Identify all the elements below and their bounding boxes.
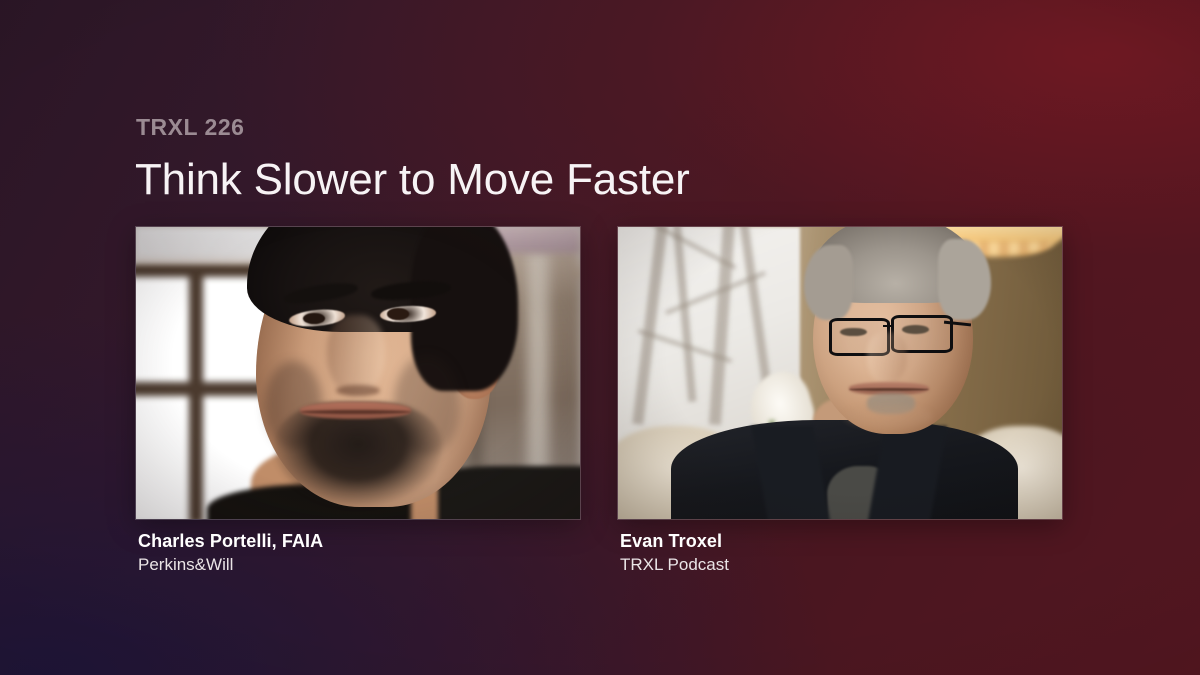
guest-organization: TRXL Podcast — [620, 554, 729, 576]
guest-name: Evan Troxel — [620, 530, 729, 553]
guest-caption-left: Charles Portelli, FAIA Perkins&Will — [138, 530, 323, 576]
episode-number-label: TRXL 226 — [136, 116, 244, 139]
portrait-charles-portelli — [136, 227, 580, 519]
podcast-episode-card: TRXL 226 Think Slower to Move Faster — [0, 0, 1200, 675]
photo-vignette — [618, 227, 1062, 519]
photo-vignette — [136, 227, 580, 519]
guest-organization: Perkins&Will — [138, 554, 323, 576]
portrait-evan-troxel — [618, 227, 1062, 519]
guest-caption-right: Evan Troxel TRXL Podcast — [620, 530, 729, 576]
guest-name: Charles Portelli, FAIA — [138, 530, 323, 553]
guest-photo-card-left — [136, 227, 580, 519]
guest-photo-card-right — [618, 227, 1062, 519]
episode-title: Think Slower to Move Faster — [135, 157, 690, 204]
